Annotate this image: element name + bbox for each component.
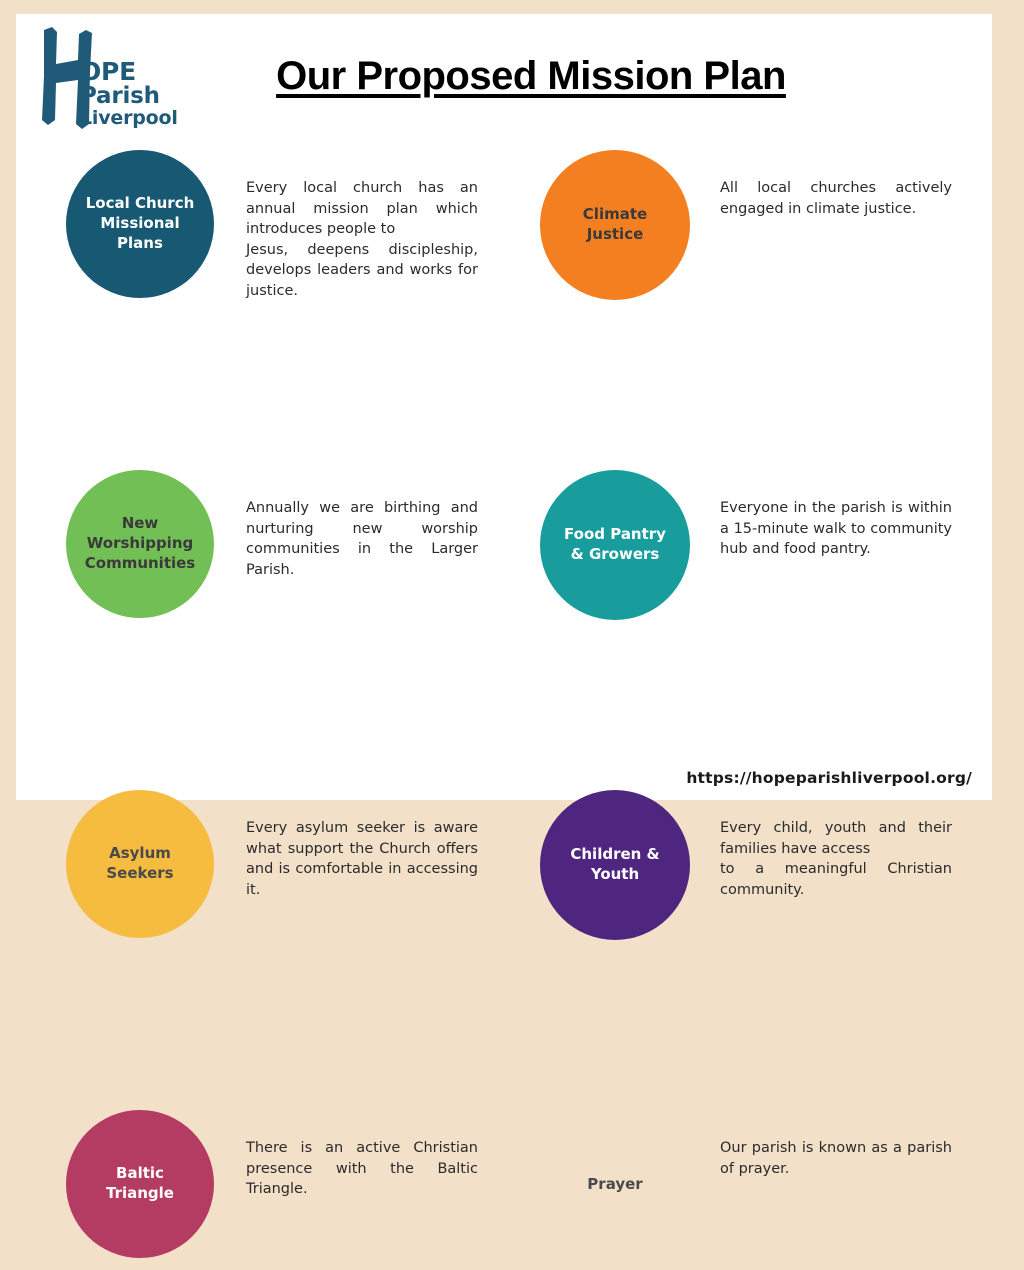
mission-item: Baltic Triangle There is an active Chris… [46,1110,506,1270]
website-url[interactable]: https://hopeparishliverpool.org/ [516,769,972,787]
circle-asylum-seekers[interactable]: Asylum Seekers [66,790,214,938]
circle-label: Climate Justice [583,205,647,245]
description-food-pantry-and-growers: Everyone in the parish is within a 15-mi… [720,498,952,560]
description-prayer: Our parish is known as a parish of praye… [720,1138,952,1179]
page-title: Our Proposed Mission Plan [206,54,856,99]
description-new-worshipping-communities: Annually we are birthing and nurturing n… [246,498,478,580]
left-column: Local Church Missional Plans Every local… [46,150,506,790]
hope-parish-liverpool-logo: OPE Parish Liverpool [32,24,162,134]
description-climate-justice: All local churches actively engaged in c… [720,178,952,219]
mission-item: Asylum Seekers Every asylum seeker is aw… [46,790,506,950]
slide-page: OPE Parish Liverpool Our Proposed Missio… [16,14,992,800]
slide-header: OPE Parish Liverpool Our Proposed Missio… [16,14,992,142]
circle-climate-justice[interactable]: Climate Justice [540,150,690,300]
circle-label: Prayer [587,1175,642,1195]
circle-label: Food Pantry & Growers [564,525,666,565]
mission-item: Prayer Our parish is known as a parish o… [516,1110,976,1270]
circle-children-and-youth[interactable]: Children & Youth [540,790,690,940]
circle-food-pantry-and-growers[interactable]: Food Pantry & Growers [540,470,690,620]
mission-item: Local Church Missional Plans Every local… [46,150,506,310]
circle-label: Local Church Missional Plans [86,194,195,253]
logo-wordmark: OPE Parish Liverpool [80,59,170,129]
mission-item: Food Pantry & Growers Everyone in the pa… [516,470,976,630]
mission-item: Climate Justice All local churches activ… [516,150,976,310]
mission-item: Children & Youth Every child, youth and … [516,790,976,950]
circle-new-worshipping-communities[interactable]: New Worshipping Communities [66,470,214,618]
description-asylum-seekers: Every asylum seeker is aware what suppor… [246,818,478,900]
page-title-text: Our Proposed Mission Plan [276,54,786,98]
circle-baltic-triangle[interactable]: Baltic Triangle [66,1110,214,1258]
mission-item: New Worshipping Communities Annually we … [46,470,506,630]
description-baltic-triangle: There is an active Christian presence wi… [246,1138,478,1200]
right-column: Climate Justice All local churches activ… [516,150,976,790]
circle-label: Baltic Triangle [106,1164,174,1204]
logo-line-parish: Parish [80,85,170,109]
circle-label: Asylum Seekers [106,844,173,884]
circle-prayer[interactable]: Prayer [540,1110,690,1260]
logo-line-ope: OPE [80,59,170,85]
circle-label: Children & Youth [570,845,659,885]
logo-line-liverpool: Liverpool [80,109,170,129]
description-children-and-youth: Every child, youth and their families ha… [720,818,952,900]
description-local-church-missional-plans: Every local church has an annual mission… [246,178,478,301]
circle-local-church-missional-plans[interactable]: Local Church Missional Plans [66,150,214,298]
circle-label: New Worshipping Communities [85,514,196,573]
